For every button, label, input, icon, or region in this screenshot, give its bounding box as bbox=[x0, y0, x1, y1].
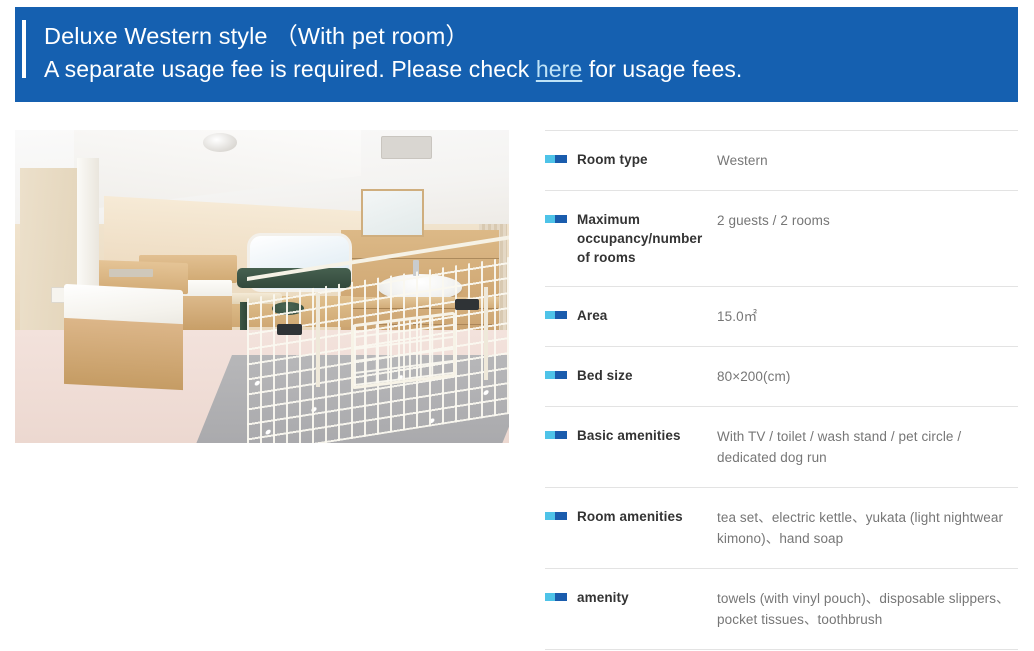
bullet-marker-icon bbox=[545, 371, 567, 379]
spec-label: Room amenities bbox=[577, 507, 715, 526]
spec-value: 15.0㎡ bbox=[715, 306, 1018, 327]
spec-value: 80×200(cm) bbox=[715, 366, 1018, 387]
bullet-marker-icon bbox=[545, 155, 567, 163]
bullet-marker-icon bbox=[545, 431, 567, 439]
table-row: Area 15.0㎡ bbox=[545, 287, 1018, 347]
photo-bed-base bbox=[64, 318, 183, 390]
spec-label: Maximum occupancy/number of rooms bbox=[577, 210, 715, 267]
bullet-marker-icon bbox=[545, 311, 567, 319]
spec-label: Basic amenities bbox=[577, 426, 715, 445]
spec-label: amenity bbox=[577, 588, 715, 607]
spec-value: towels (with vinyl pouch)、disposable sli… bbox=[715, 588, 1018, 630]
table-row: Bed size 80×200(cm) bbox=[545, 347, 1018, 407]
spec-value: 2 guests / 2 rooms bbox=[715, 210, 1018, 231]
table-row: Maximum occupancy/number of rooms 2 gues… bbox=[545, 191, 1018, 287]
bullet-marker-icon bbox=[545, 593, 567, 601]
room-photo-image bbox=[15, 130, 509, 443]
photo-fence-post bbox=[316, 293, 320, 387]
bullet-marker-icon bbox=[545, 215, 567, 223]
photo-ceiling-dome-light bbox=[203, 133, 238, 152]
photo-mirror bbox=[361, 189, 424, 237]
table-row: Basic amenities With TV / toilet / wash … bbox=[545, 407, 1018, 488]
photo-fence-post bbox=[484, 287, 488, 381]
spec-value: tea set、electric kettle、yukata (light ni… bbox=[715, 507, 1018, 549]
room-photo bbox=[15, 130, 509, 443]
room-header-banner: Deluxe Western style （With pet room） A s… bbox=[15, 7, 1018, 102]
table-row: Room amenities tea set、electric kettle、y… bbox=[545, 488, 1018, 569]
bullet-marker-icon bbox=[545, 512, 567, 520]
photo-ceiling-vent bbox=[381, 136, 432, 158]
photo-fence-cap bbox=[455, 299, 480, 310]
spec-label: Area bbox=[577, 306, 715, 325]
notice-text-after: for usage fees. bbox=[582, 56, 742, 82]
page-title: Deluxe Western style （With pet room） bbox=[44, 20, 1006, 53]
table-row: amenity towels (with vinyl pouch)、dispos… bbox=[545, 569, 1018, 650]
spec-label: Bed size bbox=[577, 366, 715, 385]
room-spec-table: Room type Western Maximum occupancy/numb… bbox=[545, 130, 1018, 650]
usage-fee-notice: A separate usage fee is required. Please… bbox=[44, 53, 1006, 86]
notice-text-before: A separate usage fee is required. Please… bbox=[44, 56, 536, 82]
header-text-block: Deluxe Western style （With pet room） A s… bbox=[44, 20, 1006, 86]
spec-label: Room type bbox=[577, 150, 715, 169]
photo-fence-cap bbox=[277, 324, 302, 335]
spec-value: With TV / toilet / wash stand / pet circ… bbox=[715, 426, 1018, 468]
usage-fee-link[interactable]: here bbox=[536, 56, 582, 82]
header-accent-bar bbox=[22, 20, 26, 78]
photo-pet-fence-gate bbox=[351, 311, 456, 389]
table-row: Room type Western bbox=[545, 130, 1018, 191]
spec-value: Western bbox=[715, 150, 1018, 171]
photo-headboard-panel bbox=[109, 269, 153, 277]
